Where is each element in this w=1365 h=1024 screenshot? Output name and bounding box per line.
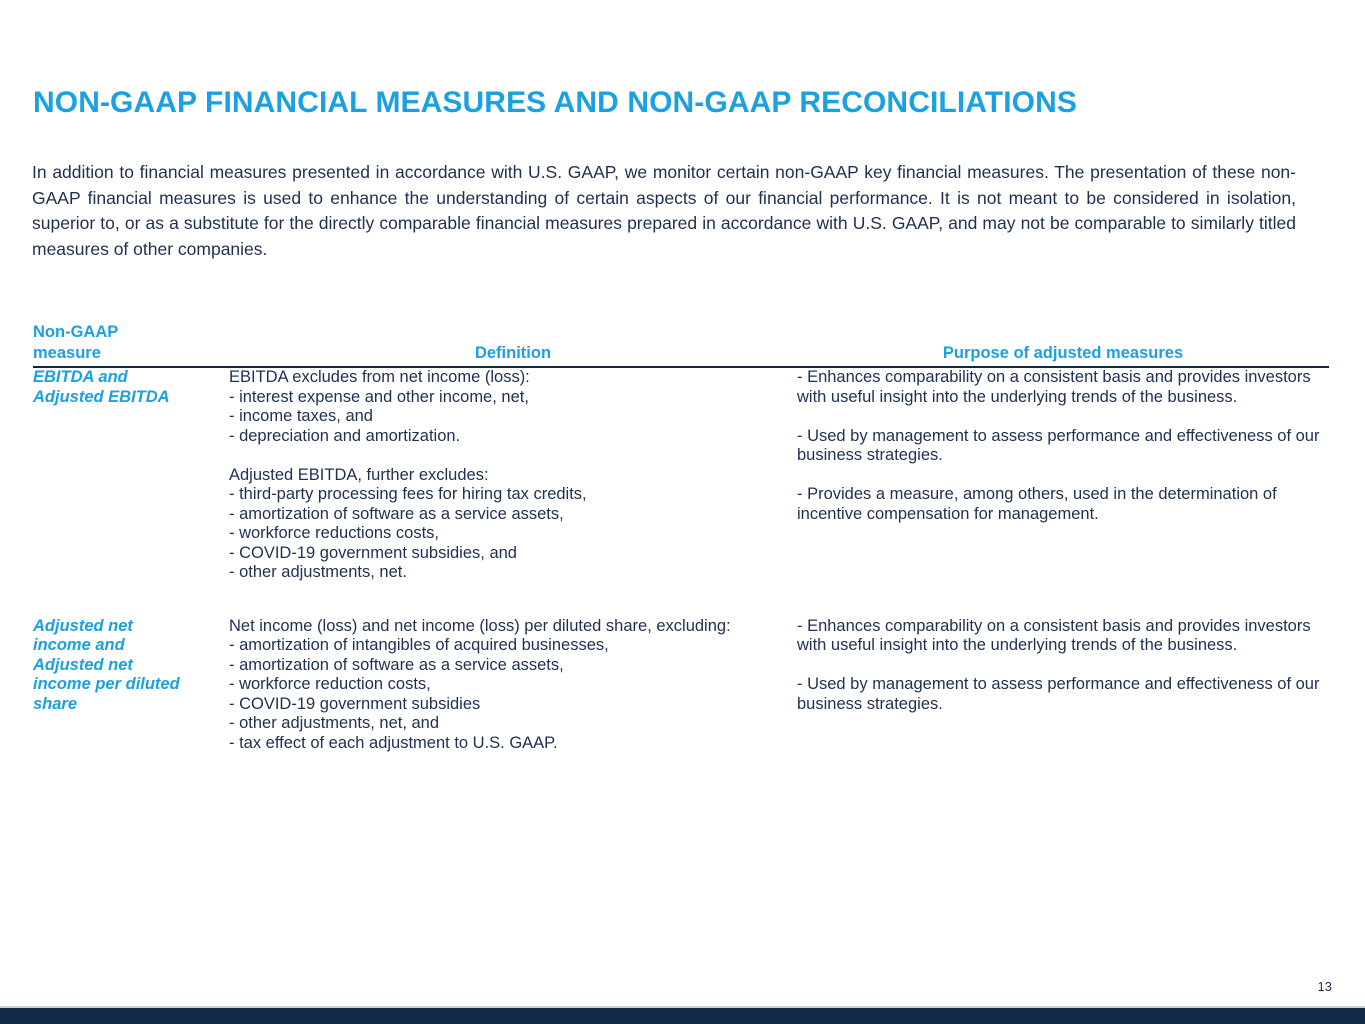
intro-paragraph: In addition to financial measures presen… [32, 160, 1296, 262]
non-gaap-measures-table: Non-GAAP measure Definition Purpose of a… [33, 322, 1329, 753]
table-header: Non-GAAP measure Definition Purpose of a… [33, 322, 1329, 367]
slide-canvas: NON-GAAP FINANCIAL MEASURES AND NON-GAAP… [0, 0, 1365, 1024]
table-body: EBITDA and Adjusted EBITDA EBITDA exclud… [33, 367, 1329, 753]
cell-definition: EBITDA excludes from net income (loss): … [229, 367, 797, 583]
table-row-spacer [33, 583, 1329, 617]
table-header-row: Non-GAAP measure Definition Purpose of a… [33, 322, 1329, 367]
spacer-cell [229, 583, 797, 617]
non-gaap-table-wrapper: Non-GAAP measure Definition Purpose of a… [33, 322, 1329, 753]
column-header-purpose: Purpose of adjusted measures [797, 322, 1329, 367]
spacer-cell [33, 583, 229, 617]
footer-bar [0, 1008, 1365, 1024]
table-row: Adjusted net income and Adjusted net inc… [33, 617, 1329, 754]
cell-purpose: - Enhances comparability on a consistent… [797, 367, 1329, 583]
table-row: EBITDA and Adjusted EBITDA EBITDA exclud… [33, 367, 1329, 583]
page-number: 13 [1318, 979, 1332, 994]
cell-definition: Net income (loss) and net income (loss) … [229, 617, 797, 754]
cell-purpose: - Enhances comparability on a consistent… [797, 617, 1329, 754]
cell-measure-name: Adjusted net income and Adjusted net inc… [33, 617, 229, 754]
column-header-measure: Non-GAAP measure [33, 322, 229, 367]
page-title: NON-GAAP FINANCIAL MEASURES AND NON-GAAP… [33, 86, 1077, 120]
cell-measure-name: EBITDA and Adjusted EBITDA [33, 367, 229, 583]
column-header-definition: Definition [229, 322, 797, 367]
spacer-cell [797, 583, 1329, 617]
